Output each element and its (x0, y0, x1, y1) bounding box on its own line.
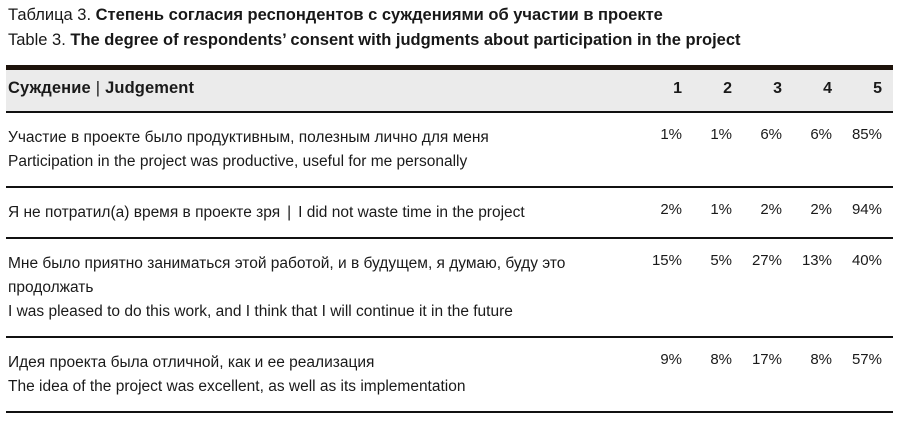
caption-title-ru: Степень согласия респондентов с суждения… (96, 6, 663, 24)
value-cell-3: 17% (743, 337, 793, 412)
judgement-text-ru: Мне было приятно заниматься этой работой… (8, 252, 635, 300)
value-cell-4: 13% (793, 238, 843, 337)
column-header-scale-4: 4 (793, 68, 843, 113)
judgement-text-en: Participation in the project was product… (8, 150, 635, 174)
column-header-separator: | (91, 79, 105, 97)
value-cell-2: 8% (693, 337, 743, 412)
value-cell-3: 2% (743, 187, 793, 238)
value-cell-2: 1% (693, 112, 743, 187)
judgement-text-en: I did not waste time in the project (298, 204, 525, 221)
value-cell-2: 5% (693, 238, 743, 337)
caption-line-en: Table 3. The degree of respondents’ cons… (8, 28, 891, 53)
table-container: Суждение|Judgement 1 2 3 4 5 Участие в п… (0, 65, 899, 413)
table-caption: Таблица 3. Степень согласия респондентов… (0, 0, 899, 53)
column-header-judgement: Суждение|Judgement (6, 68, 643, 113)
column-header-scale-3: 3 (743, 68, 793, 113)
column-header-scale-2: 2 (693, 68, 743, 113)
value-cell-5: 40% (843, 238, 893, 337)
caption-label-en: Table 3. (8, 31, 66, 49)
value-cell-1: 9% (643, 337, 693, 412)
consent-table: Суждение|Judgement 1 2 3 4 5 Участие в п… (6, 65, 893, 413)
value-cell-5: 94% (843, 187, 893, 238)
table-head: Суждение|Judgement 1 2 3 4 5 (6, 68, 893, 113)
value-cell-2: 1% (693, 187, 743, 238)
caption-label-ru: Таблица 3. (8, 6, 91, 24)
value-cell-5: 85% (843, 112, 893, 187)
judgement-text-en: The idea of the project was excellent, a… (8, 375, 635, 399)
table-row: Участие в проекте было продуктивным, пол… (6, 112, 893, 187)
judgement-cell: Участие в проекте было продуктивным, пол… (6, 112, 643, 187)
judgement-cell: Идея проекта была отличной, как и ее реа… (6, 337, 643, 412)
table-page: Таблица 3. Степень согласия респондентов… (0, 0, 899, 443)
caption-title-en: The degree of respondents’ consent with … (70, 31, 740, 49)
table-body: Участие в проекте было продуктивным, пол… (6, 112, 893, 412)
value-cell-3: 27% (743, 238, 793, 337)
judgement-cell: Я не потратил(а) время в проекте зря|I d… (6, 187, 643, 238)
value-cell-1: 2% (643, 187, 693, 238)
column-header-judgement-ru: Суждение (8, 79, 91, 97)
judgement-text-ru: Участие в проекте было продуктивным, пол… (8, 126, 635, 150)
value-cell-3: 6% (743, 112, 793, 187)
table-header-row: Суждение|Judgement 1 2 3 4 5 (6, 68, 893, 113)
judgement-text-ru: Я не потратил(а) время в проекте зря (8, 204, 280, 221)
value-cell-5: 57% (843, 337, 893, 412)
value-cell-4: 2% (793, 187, 843, 238)
caption-line-ru: Таблица 3. Степень согласия респондентов… (8, 3, 891, 28)
judgement-text-en: I was pleased to do this work, and I thi… (8, 300, 635, 324)
value-cell-4: 8% (793, 337, 843, 412)
judgement-cell: Мне было приятно заниматься этой работой… (6, 238, 643, 337)
column-header-scale-1: 1 (643, 68, 693, 113)
table-row: Мне было приятно заниматься этой работой… (6, 238, 893, 337)
table-row: Идея проекта была отличной, как и ее реа… (6, 337, 893, 412)
value-cell-4: 6% (793, 112, 843, 187)
column-header-scale-5: 5 (843, 68, 893, 113)
value-cell-1: 15% (643, 238, 693, 337)
table-row: Я не потратил(а) время в проекте зря|I d… (6, 187, 893, 238)
judgement-inline-separator: | (280, 204, 298, 221)
column-header-judgement-en: Judgement (105, 79, 194, 97)
judgement-text-ru: Идея проекта была отличной, как и ее реа… (8, 351, 635, 375)
value-cell-1: 1% (643, 112, 693, 187)
